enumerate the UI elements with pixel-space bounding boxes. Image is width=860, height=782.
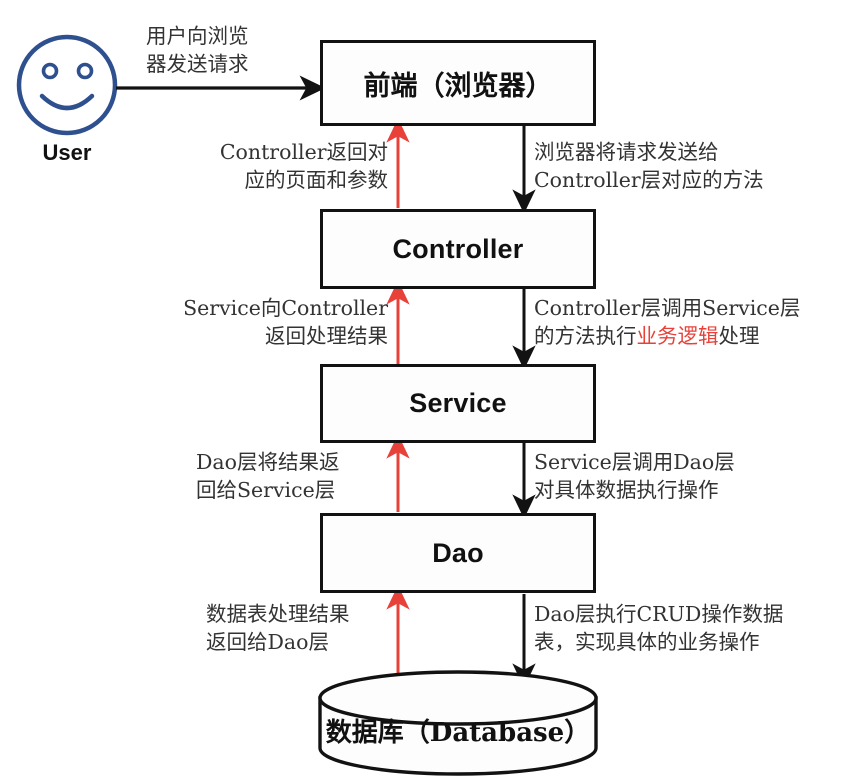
diagram-canvas: User 前端（浏览器） Controller Service Dao 数据库（… bbox=[0, 0, 860, 782]
edge-label-service-to-dao: Service层调用Dao层 对具体数据执行操作 bbox=[534, 448, 834, 505]
node-dao-label: Dao bbox=[432, 538, 484, 569]
edge-label-controller-to-service: Controller层调用Service层 的方法执行业务逻辑处理 bbox=[534, 294, 860, 351]
edge-label-controller-to-service-part2: 处理 bbox=[719, 324, 760, 348]
edge-label-business-logic-highlight: 业务逻辑 bbox=[637, 324, 719, 348]
node-database-label: 数据库（Database） bbox=[320, 712, 596, 749]
node-frontend-label: 前端（浏览器） bbox=[364, 64, 553, 103]
node-controller[interactable]: Controller bbox=[320, 209, 596, 289]
edge-label-service-to-controller: Service向Controller 返回处理结果 bbox=[168, 294, 388, 351]
edge-label-dao-to-service: Dao层将结果返 回给Service层 bbox=[196, 448, 396, 505]
node-controller-label: Controller bbox=[392, 234, 523, 265]
edge-label-user-to-frontend: 用户向浏览 器发送请求 bbox=[146, 22, 321, 79]
user-label: User bbox=[0, 140, 137, 166]
edge-label-controller-to-frontend: Controller返回对 应的页面和参数 bbox=[188, 138, 388, 195]
node-dao[interactable]: Dao bbox=[320, 513, 596, 593]
node-service-label: Service bbox=[409, 388, 506, 419]
node-service[interactable]: Service bbox=[320, 364, 596, 443]
edge-label-frontend-to-controller: 浏览器将请求发送给 Controller层对应的方法 bbox=[534, 138, 854, 195]
user-smiley-icon bbox=[19, 37, 115, 133]
node-frontend[interactable]: 前端（浏览器） bbox=[320, 40, 596, 126]
edge-label-database-to-dao: 数据表处理结果 返回给Dao层 bbox=[206, 600, 401, 657]
edge-label-dao-to-database: Dao层执行CRUD操作数据 表，实现具体的业务操作 bbox=[534, 600, 856, 657]
